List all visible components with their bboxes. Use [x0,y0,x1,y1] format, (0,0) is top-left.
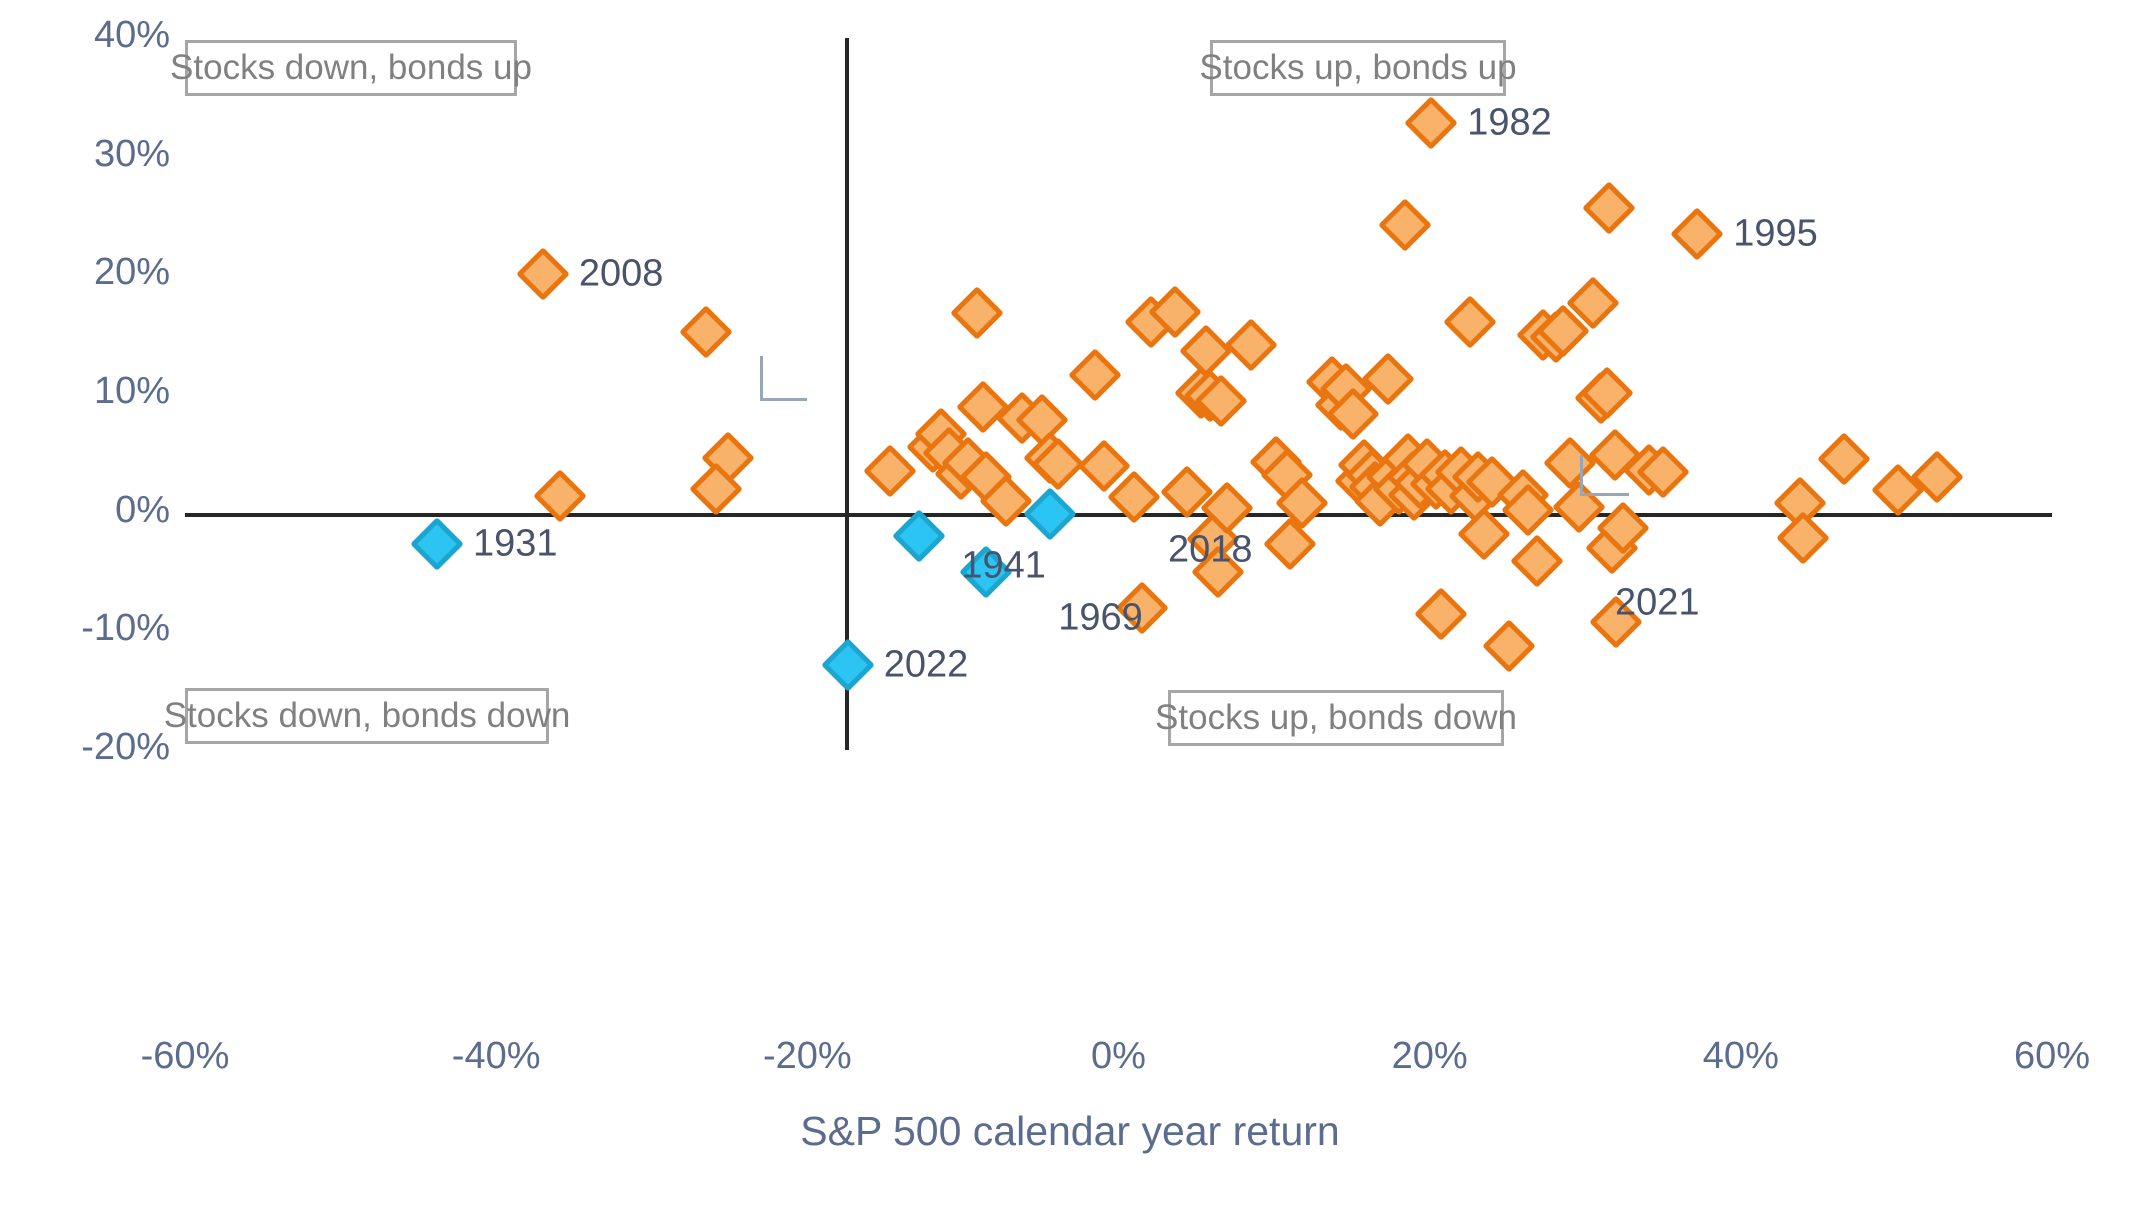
x-tick-label: -60% [85,1035,285,1078]
quadrant-label-bottom-right: Stocks up, bonds down [1168,690,1504,746]
scatter-marker [1582,181,1636,235]
scatter-marker [1361,352,1415,406]
y-tick-label: 30% [20,133,170,176]
x-tick-label: 20% [1330,1035,1530,1078]
scatter-marker-highlight [892,510,946,564]
point-label-2008: 2008 [579,253,664,296]
point-label-2018: 2018 [1168,528,1253,571]
x-tick-label: -40% [396,1035,596,1078]
scatter-marker [1378,199,1432,253]
scatter-marker-highlight [1023,487,1077,541]
y-tick-label: 10% [20,370,170,413]
point-label-1931: 1931 [473,522,558,565]
scatter-marker [1776,511,1830,565]
y-tick-label: -10% [20,607,170,650]
x-tick-label: 40% [1641,1035,1841,1078]
scatter-marker [1414,587,1468,641]
scatter-marker [950,286,1004,340]
scatter-marker [1670,207,1724,261]
scatter-marker [1443,295,1497,349]
y-tick-label: -20% [20,726,170,769]
scatter-marker [863,444,917,498]
point-label-1969: 1969 [1058,597,1143,640]
point-label-2022: 2022 [884,643,969,686]
y-tick-label: 20% [20,251,170,294]
scatter-marker [956,380,1010,434]
point-label-1982: 1982 [1467,102,1552,145]
scatter-marker [1263,517,1317,571]
scatter-marker [516,247,570,301]
point-label-1941: 1941 [961,545,1046,588]
x-tick-label: 0% [1019,1035,1219,1078]
quadrant-label-top-right: Stocks up, bonds up [1210,40,1506,96]
leader-line-1969 [760,356,807,401]
scatter-marker [1224,318,1278,372]
x-tick-label: -20% [707,1035,907,1078]
x-axis-title: S&P 500 calendar year return [620,1108,1520,1155]
leader-line-2021 [1580,455,1629,496]
scatter-marker [1068,348,1122,402]
x-tick-label: 60% [1952,1035,2145,1078]
scatter-marker [679,305,733,359]
scatter-marker [1179,324,1233,378]
quadrant-label-top-left: Stocks down, bonds up [185,40,517,96]
chart-root: U.S. 10-year Treasury calendar year retu… [0,0,2145,1221]
quadrant-label-bottom-left: Stocks down, bonds down [185,688,549,744]
scatter-marker-highlight [821,638,875,692]
scatter-marker [1510,534,1564,588]
point-label-1995: 1995 [1733,212,1818,255]
zero-line-horizontal [185,513,2052,517]
scatter-marker-highlight [410,517,464,571]
plot-area: 200819822021199519312022194119692018 [185,38,2052,750]
y-tick-label: 0% [20,489,170,532]
scatter-marker [1482,619,1536,673]
point-label-2021: 2021 [1615,582,1700,625]
y-tick-label: 40% [20,14,170,57]
scatter-marker [1817,432,1871,486]
scatter-marker [1404,97,1458,151]
